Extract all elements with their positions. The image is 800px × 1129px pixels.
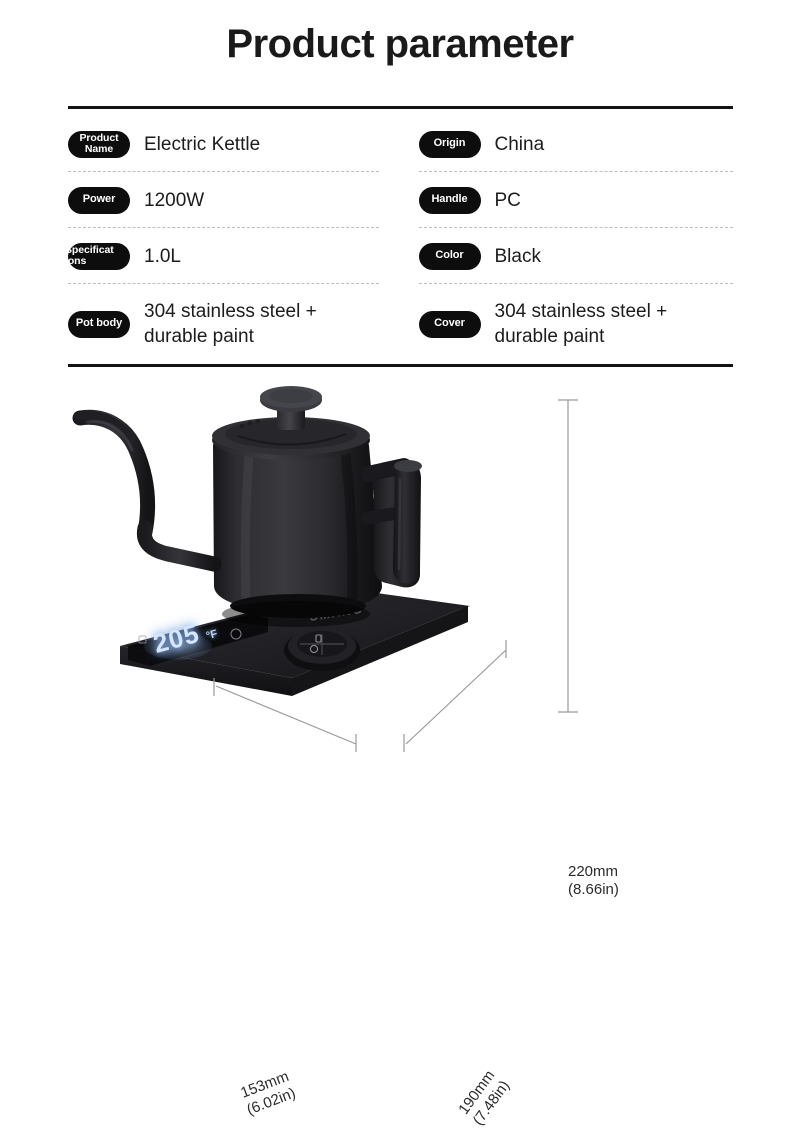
spec-column-right: Origin China Handle PC Color Black Cover <box>401 116 734 364</box>
spec-label-text: Power <box>83 194 116 206</box>
dimension-label-height: 220mm (8.66in) <box>568 863 619 899</box>
spec-row-product-name: Product Name Electric Kettle <box>68 116 379 172</box>
dimension-label-width: 153mm (6.02in) <box>238 1068 298 1120</box>
spec-label-origin: Origin <box>419 131 481 158</box>
spec-value-color: Black <box>495 244 541 269</box>
spec-value-power: 1200W <box>144 188 204 213</box>
spec-label-handle: Handle <box>419 187 481 214</box>
spec-label-text: Pot body <box>76 318 122 330</box>
spec-table-top-rule <box>68 106 733 109</box>
spec-label-line-2: Name <box>80 144 119 155</box>
spec-row-pot-body: Pot body 304 stainless steel + durable p… <box>68 284 379 364</box>
spec-label-power: Power <box>68 187 130 214</box>
spec-value-cover: 304 stainless steel + durable paint <box>495 299 734 349</box>
depth-dimension-line <box>406 650 506 744</box>
height-in: (8.66in) <box>568 881 619 899</box>
spec-label-cover: Cover <box>419 311 481 338</box>
dimension-lines <box>0 378 800 800</box>
spec-value-origin: China <box>495 132 545 157</box>
spec-label-line-2: ions <box>65 256 131 267</box>
spec-row-color: Color Black <box>419 228 734 284</box>
spec-row-specifications: Specificat ions 1.0L <box>68 228 379 284</box>
spec-label-text: Handle <box>431 194 467 206</box>
spec-table-bottom-rule <box>68 364 733 367</box>
spec-label-text: Cover <box>434 318 465 330</box>
spec-value-pot-body: 304 stainless steel + durable paint <box>144 299 379 349</box>
spec-label-color: Color <box>419 243 481 270</box>
spec-label-product-name: Product Name <box>68 131 130 158</box>
spec-label-text: Color <box>435 250 463 262</box>
spec-row-power: Power 1200W <box>68 172 379 228</box>
spec-label-pot-body: Pot body <box>68 311 130 338</box>
spec-value-handle: PC <box>495 188 521 213</box>
spec-column-left: Product Name Electric Kettle Power 1200W… <box>68 116 401 364</box>
spec-value-specifications: 1.0L <box>144 244 181 269</box>
spec-label-text: Origin <box>434 138 466 150</box>
dimension-label-depth: 190mm (7.48in) <box>455 1067 514 1129</box>
spec-table: Product Name Electric Kettle Power 1200W… <box>68 116 733 364</box>
width-dimension-line <box>216 686 356 744</box>
product-image-area: SMANG <box>0 378 800 800</box>
spec-row-cover: Cover 304 stainless steel + durable pain… <box>419 284 734 364</box>
spec-row-origin: Origin China <box>419 116 734 172</box>
product-parameter-page: Product parameter Product Name Electric … <box>0 0 800 800</box>
spec-value-product-name: Electric Kettle <box>144 132 260 157</box>
height-mm: 220mm <box>568 863 619 881</box>
spec-label-specifications: Specificat ions <box>68 243 130 270</box>
page-title: Product parameter <box>0 22 800 67</box>
spec-row-handle: Handle PC <box>419 172 734 228</box>
